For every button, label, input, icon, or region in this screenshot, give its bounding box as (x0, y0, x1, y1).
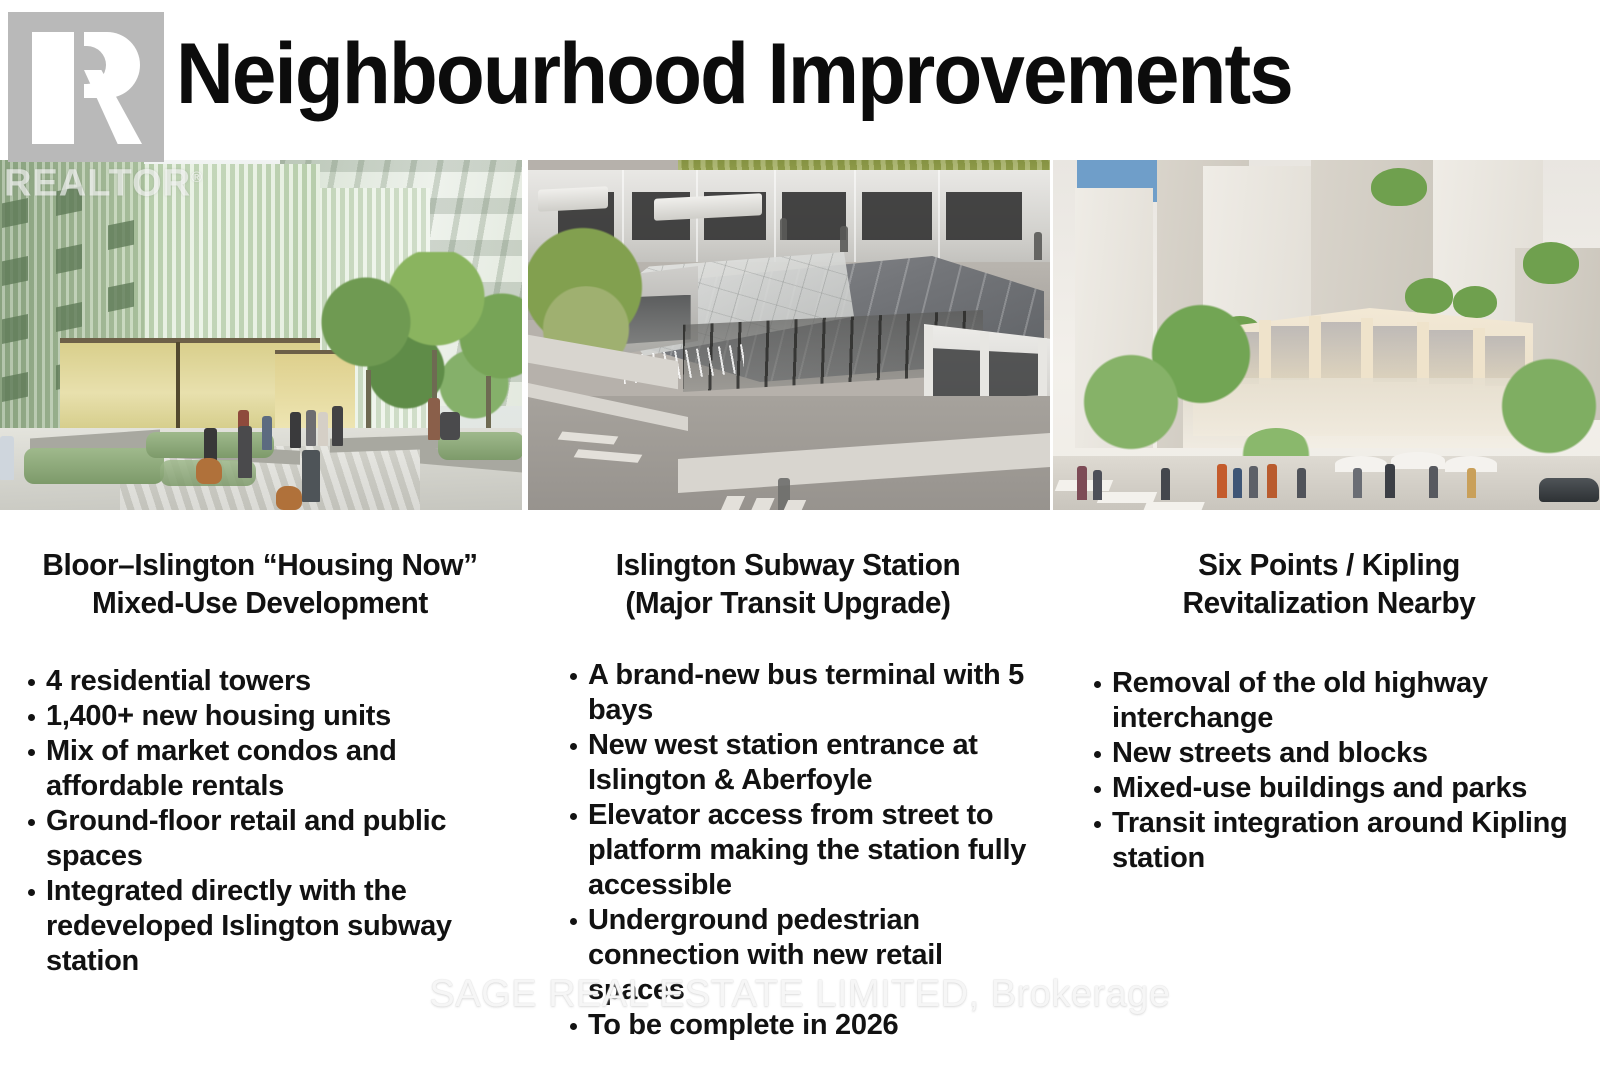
photo3-mullion (1361, 318, 1373, 384)
column-2-heading-line-2: (Major Transit Upgrade) (546, 584, 1030, 622)
photo3-pedestrian (1077, 466, 1087, 500)
photo2-parapet (538, 186, 608, 212)
photo3-car (1539, 478, 1599, 502)
photo1-retail-mullion (176, 342, 180, 438)
realtor-watermark-label: REALTOR (4, 163, 191, 205)
photo3-pedestrian (1233, 468, 1242, 498)
photo3-pedestrian (1467, 468, 1476, 498)
photo1-person-crouching (302, 450, 320, 502)
bullet-item: Ground-floor retail and public spaces (14, 804, 504, 874)
photo3-roof-tree (1371, 168, 1427, 206)
photo-six-points-kipling-revitalization (1053, 160, 1600, 510)
photo1-person (262, 416, 272, 450)
photo1-person (290, 412, 301, 448)
title-bar: Neighbourhood Improvements (0, 0, 1600, 160)
bullet-item: 1,400+ new housing units (14, 699, 504, 734)
content-columns: Bloor–Islington “Housing Now” Mixed-Use … (0, 524, 1600, 1024)
column-islington-subway-station: Islington Subway Station (Major Transit … (526, 524, 1050, 1043)
photo1-stroller (440, 412, 460, 440)
column-housing-now: Bloor–Islington “Housing Now” Mixed-Use … (0, 524, 520, 979)
column-2-heading-line-1: Islington Subway Station (546, 546, 1030, 584)
photo1-person (306, 410, 316, 446)
page-title: Neighbourhood Improvements (176, 26, 1292, 122)
photo1-person (318, 412, 328, 446)
column-1-bullet-list: 4 residential towers 1,400+ new housing … (14, 664, 504, 979)
photo3-crosswalk-stripe (1143, 502, 1205, 510)
bullet-item: New west station entrance at Islington &… (556, 728, 1040, 798)
photo1-dog (276, 486, 302, 510)
photo1-person (332, 406, 343, 446)
photo3-window (1373, 326, 1417, 382)
photo3-pedestrian (1093, 470, 1102, 500)
photo3-pedestrian (1297, 468, 1306, 498)
photo3-roof-tree (1453, 286, 1497, 318)
photo1-person (238, 426, 252, 478)
column-1-heading-line-1: Bloor–Islington “Housing Now” (20, 546, 500, 584)
column-1-heading-line-2: Mixed-Use Development (20, 584, 500, 622)
photo3-pedestrian (1385, 464, 1395, 498)
photo1-person (428, 398, 440, 440)
column-3-heading-line-1: Six Points / Kipling (1078, 546, 1579, 584)
photo3-window (1269, 326, 1309, 380)
photo3-pedestrian (1267, 464, 1277, 498)
bullet-item: A brand-new bus terminal with 5 bays (556, 658, 1040, 728)
bullet-item: Removal of the old highway interchange (1080, 666, 1600, 736)
bullet-item: 4 residential towers (14, 664, 504, 699)
realtor-watermark-text: REALTOR® (4, 158, 203, 204)
column-six-points-kipling: Six Points / Kipling Revitalization Near… (1058, 524, 1600, 876)
photo1-hedge (24, 448, 164, 484)
bullet-item: Mixed-use buildings and parks (1080, 771, 1600, 806)
column-3-heading-line-2: Revitalization Nearby (1078, 584, 1579, 622)
registered-trademark-icon: ® (191, 169, 203, 186)
photo3-street-tree (1499, 356, 1599, 456)
photo3-mullion (1417, 322, 1429, 386)
column-3-bullet-list: Removal of the old highway interchange N… (1080, 666, 1600, 876)
photo-islington-bus-terminal (528, 160, 1050, 510)
photo3-pedestrian (1353, 468, 1362, 498)
photo1-dog (196, 458, 222, 484)
photo3-mullion (1259, 320, 1271, 384)
photo3-street-tree (1079, 352, 1183, 452)
bullet-item: Elevator access from street to platform … (556, 798, 1040, 903)
image-strip (0, 160, 1600, 510)
bullet-item: Integrated directly with the redeveloped… (14, 874, 504, 979)
photo3-pedestrian (1429, 466, 1438, 498)
bullet-item: Mix of market condos and affordable rent… (14, 734, 504, 804)
photo3-roof-tree (1523, 242, 1579, 284)
column-3-heading: Six Points / Kipling Revitalization Near… (1069, 546, 1589, 622)
photo-housing-now-development (0, 160, 522, 510)
photo3-pedestrian (1249, 466, 1258, 498)
photo3-window (1319, 322, 1361, 378)
column-1-heading: Bloor–Islington “Housing Now” Mixed-Use … (10, 546, 509, 622)
photo1-cyclist (0, 436, 14, 480)
brokerage-watermark: SAGE REAL ESTATE LIMITED, Brokerage (0, 972, 1600, 1016)
photo2-person (780, 218, 787, 240)
column-2-heading: Islington Subway Station (Major Transit … (536, 546, 1039, 622)
bullet-item: Transit integration around Kipling stati… (1080, 806, 1600, 876)
photo2-person (840, 226, 848, 252)
realtor-logo-stem (32, 32, 74, 144)
bullet-item: New streets and blocks (1080, 736, 1600, 771)
photo3-roof-tree (1405, 278, 1453, 314)
photo3-mullion (1309, 316, 1321, 382)
photo3-pedestrian (1217, 464, 1227, 498)
photo3-window (1429, 330, 1473, 384)
photo2-person (1034, 232, 1042, 260)
realtor-logo-icon (8, 12, 164, 162)
photo3-pedestrian (1161, 468, 1170, 500)
